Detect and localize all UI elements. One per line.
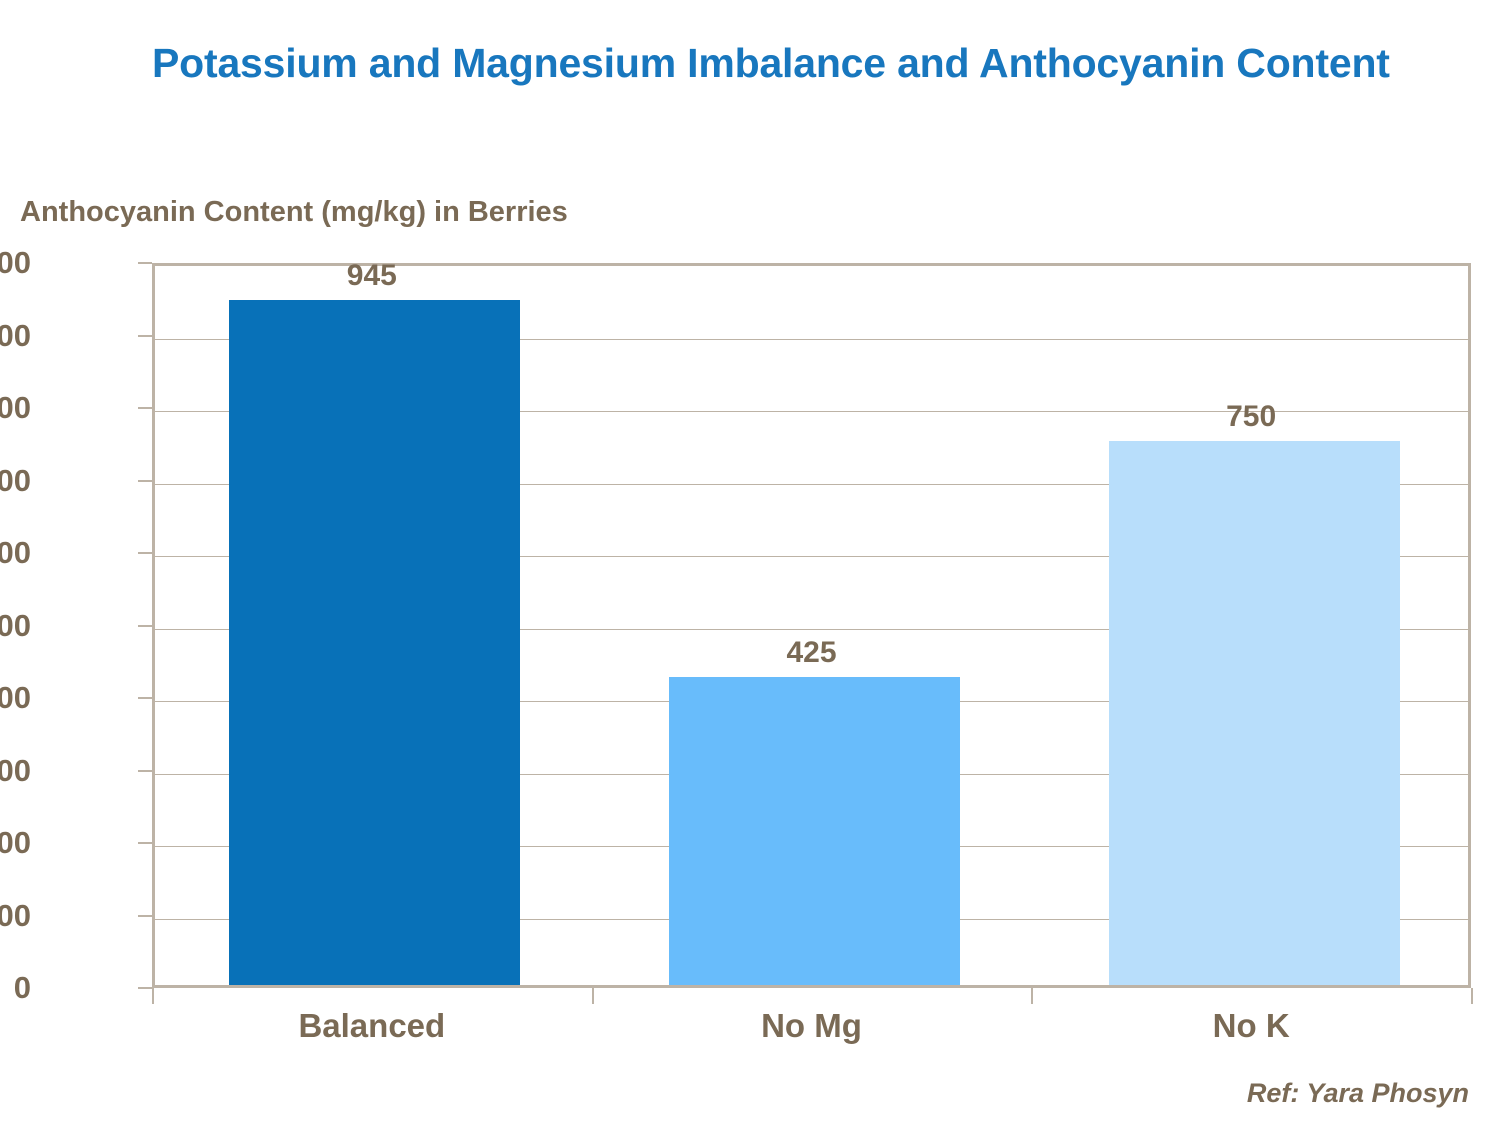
y-tick-mark — [138, 697, 152, 699]
y-tick-mark — [138, 335, 152, 337]
bar — [229, 300, 520, 985]
reference-note: Ref: Yara Phosyn — [1247, 1078, 1469, 1109]
y-tick-label: 100 — [0, 898, 31, 934]
y-tick-mark — [138, 915, 152, 917]
y-tick-label: 500 — [0, 608, 31, 644]
x-tick-label: No Mg — [592, 1007, 1032, 1045]
y-tick-label: 400 — [0, 680, 31, 716]
y-tick-mark — [138, 552, 152, 554]
y-tick-mark — [138, 262, 152, 264]
y-axis-label: Anthocyanin Content (mg/kg) in Berries — [20, 196, 568, 229]
y-tick-label: 1,000 — [0, 245, 31, 281]
bar-value-label: 425 — [666, 636, 957, 670]
y-tick-label: 0 — [0, 970, 31, 1006]
y-tick-mark — [138, 480, 152, 482]
y-tick-label: 800 — [0, 390, 31, 426]
y-tick-mark — [138, 842, 152, 844]
bar — [669, 677, 960, 985]
y-tick-label: 300 — [0, 753, 31, 789]
x-tick-mark — [1031, 988, 1033, 1004]
y-tick-label: 600 — [0, 535, 31, 571]
x-tick-label: Balanced — [152, 1007, 592, 1045]
page-title: Potassium and Magnesium Imbalance and An… — [152, 38, 1472, 88]
y-tick-mark — [138, 625, 152, 627]
x-tick-label: No K — [1031, 1007, 1471, 1045]
x-tick-mark — [152, 988, 154, 1004]
y-tick-mark — [138, 987, 152, 989]
plot-area — [152, 263, 1471, 988]
x-tick-mark — [1471, 988, 1473, 1004]
y-tick-mark — [138, 407, 152, 409]
bar-value-label: 750 — [1106, 400, 1397, 434]
y-tick-label: 700 — [0, 463, 31, 499]
x-tick-mark — [592, 988, 594, 1004]
y-tick-label: 200 — [0, 825, 31, 861]
y-tick-mark — [138, 770, 152, 772]
bar — [1109, 441, 1400, 985]
bar-value-label: 945 — [226, 259, 517, 293]
y-tick-label: 900 — [0, 318, 31, 354]
